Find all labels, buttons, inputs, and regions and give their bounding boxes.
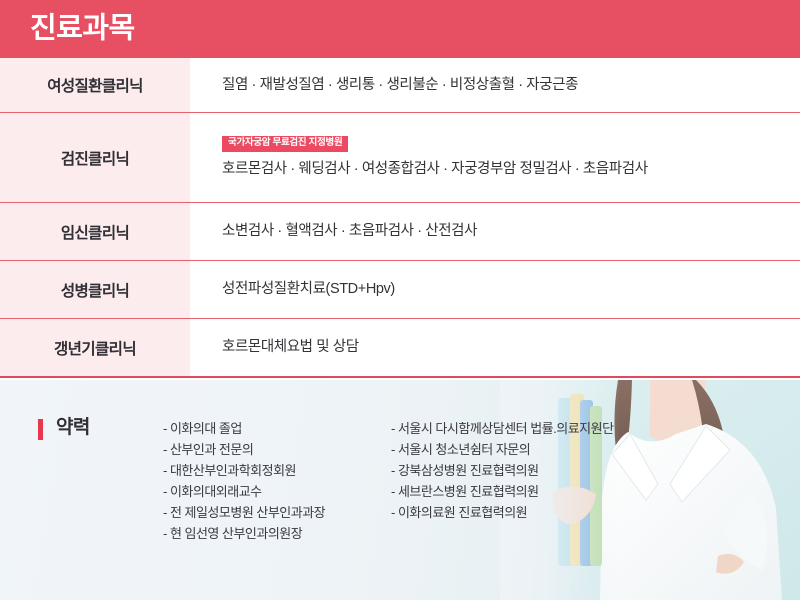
list-item: - 대한산부인과학회정회원 bbox=[163, 460, 391, 481]
clinic-services-cell: 소변검사 · 혈액검사 · 초음파검사 · 산전검사 bbox=[190, 203, 800, 260]
accent-bar-icon bbox=[38, 419, 43, 440]
medical-subjects-table: 여성질환클리닉 질염 · 재발성질염 · 생리통 · 생리불순 · 비정상출혈 … bbox=[0, 58, 800, 378]
bio-heading: 약력 bbox=[38, 418, 163, 544]
status-badge: 국가자궁암 무료검진 지정병원 bbox=[222, 136, 348, 151]
clinic-services-text: 호르몬검사 · 웨딩검사 · 여성종합검사 · 자궁경부암 정밀검사 · 초음파… bbox=[222, 159, 786, 179]
clinic-category-label: 검진클리닉 bbox=[0, 113, 190, 202]
table-row: 갱년기클리닉 호르몬대체요법 및 상담 bbox=[0, 319, 800, 376]
clinic-services-cell: 질염 · 재발성질염 · 생리통 · 생리불순 · 비정상출혈 · 자궁근종 bbox=[190, 58, 800, 112]
bio-title: 약력 bbox=[56, 418, 90, 437]
bio-column-right: - 서울시 다시함께상담센터 법률.의료지원단 - 서울시 청소년쉼터 자문의 … bbox=[391, 418, 691, 544]
page-header: 진료과목 bbox=[0, 0, 800, 58]
list-item: - 서울시 다시함께상담센터 법률.의료지원단 bbox=[391, 418, 691, 439]
clinic-services-text: 소변검사 · 혈액검사 · 초음파검사 · 산전검사 bbox=[222, 221, 786, 241]
clinic-info-page: 진료과목 여성질환클리닉 질염 · 재발성질염 · 생리통 · 생리불순 · 비… bbox=[0, 0, 800, 600]
table-row: 여성질환클리닉 질염 · 재발성질염 · 생리통 · 생리불순 · 비정상출혈 … bbox=[0, 58, 800, 113]
list-item: - 이화의대외래교수 bbox=[163, 481, 391, 502]
clinic-category-label: 갱년기클리닉 bbox=[0, 319, 190, 376]
table-row: 검진클리닉 국가자궁암 무료검진 지정병원 호르몬검사 · 웨딩검사 · 여성종… bbox=[0, 113, 800, 203]
clinic-services-text: 호르몬대체요법 및 상담 bbox=[222, 337, 786, 357]
list-item: - 강북삼성병원 진료협력의원 bbox=[391, 460, 691, 481]
clinic-services-cell: 국가자궁암 무료검진 지정병원 호르몬검사 · 웨딩검사 · 여성종합검사 · … bbox=[190, 113, 800, 202]
clinic-category-label: 여성질환클리닉 bbox=[0, 58, 190, 112]
clinic-services-text: 질염 · 재발성질염 · 생리통 · 생리불순 · 비정상출혈 · 자궁근종 bbox=[222, 75, 786, 95]
list-item: - 산부인과 전문의 bbox=[163, 439, 391, 460]
list-item: - 이화의대 졸업 bbox=[163, 418, 391, 439]
table-row: 임신클리닉 소변검사 · 혈액검사 · 초음파검사 · 산전검사 bbox=[0, 203, 800, 261]
list-item: - 전 제일성모병원 산부인과과장 bbox=[163, 502, 391, 523]
doctor-bio-section: 약력 - 이화의대 졸업 - 산부인과 전문의 - 대한산부인과학회정회원 - … bbox=[0, 380, 800, 600]
bio-content: 약력 - 이화의대 졸업 - 산부인과 전문의 - 대한산부인과학회정회원 - … bbox=[0, 380, 800, 544]
list-item: - 세브란스병원 진료협력의원 bbox=[391, 481, 691, 502]
clinic-services-cell: 성전파성질환치료(STD+Hpv) bbox=[190, 261, 800, 318]
page-title: 진료과목 bbox=[30, 15, 135, 44]
list-item: - 현 임선영 산부인과의원장 bbox=[163, 523, 391, 544]
list-item: - 이화의료원 진료협력의원 bbox=[391, 502, 691, 523]
bio-column-left: - 이화의대 졸업 - 산부인과 전문의 - 대한산부인과학회정회원 - 이화의… bbox=[163, 418, 391, 544]
table-row: 성병클리닉 성전파성질환치료(STD+Hpv) bbox=[0, 261, 800, 319]
list-item: - 서울시 청소년쉼터 자문의 bbox=[391, 439, 691, 460]
clinic-category-label: 성병클리닉 bbox=[0, 261, 190, 318]
clinic-services-text: 성전파성질환치료(STD+Hpv) bbox=[222, 279, 786, 299]
clinic-category-label: 임신클리닉 bbox=[0, 203, 190, 260]
clinic-services-cell: 호르몬대체요법 및 상담 bbox=[190, 319, 800, 376]
